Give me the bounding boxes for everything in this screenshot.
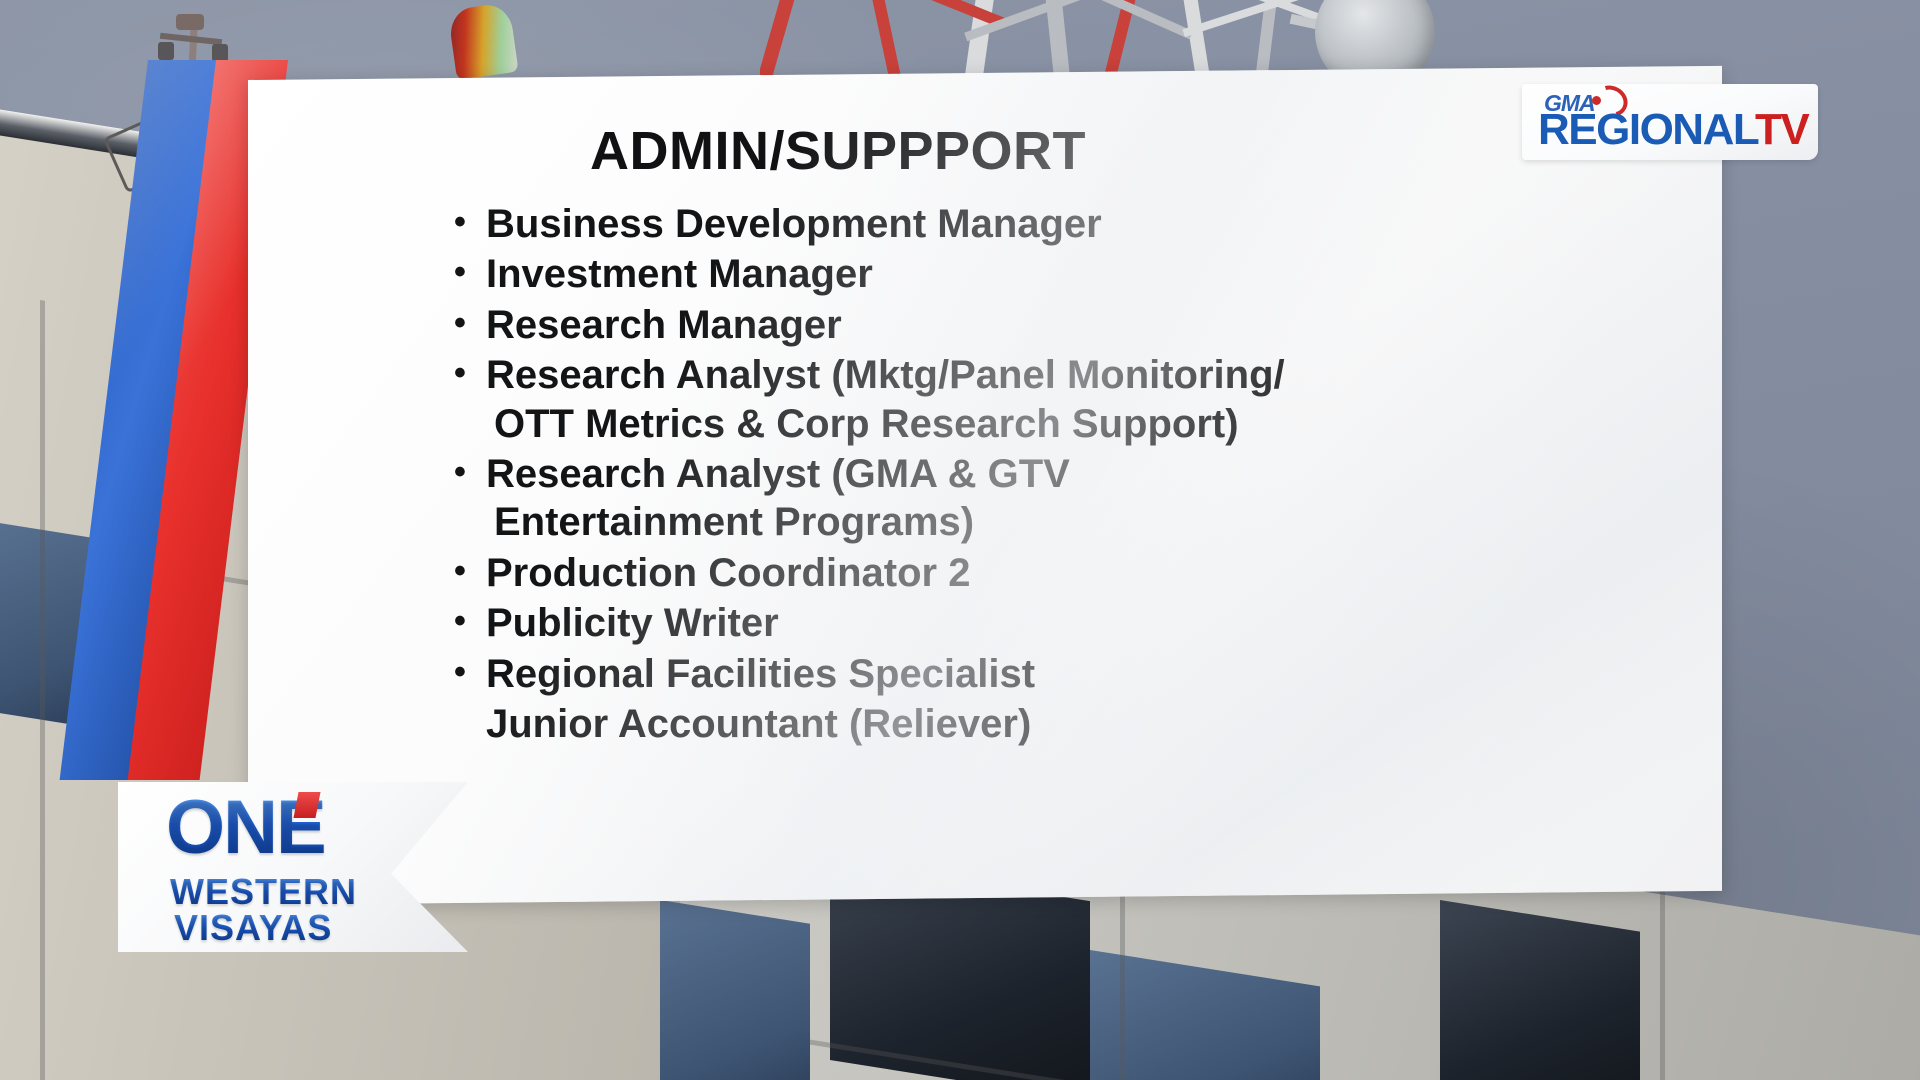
job-title: Business Development Manager bbox=[486, 202, 1102, 246]
job-listing-panel: ADMIN/SUPPPORT • Business Development Ma… bbox=[248, 66, 1722, 905]
list-item: • Research Analyst (Mktg/Panel Monitorin… bbox=[454, 351, 1684, 448]
gma-swoosh-dot-icon bbox=[1592, 96, 1601, 105]
pole-head bbox=[176, 14, 204, 30]
regional-wordmark: REGIONAL bbox=[1538, 105, 1755, 154]
bullet-icon: • bbox=[454, 351, 486, 395]
program-logo-bug: ONE WESTERN VISAYAS bbox=[118, 782, 468, 952]
broadcast-screen: ADMIN/SUPPPORT • Business Development Ma… bbox=[0, 0, 1920, 1080]
job-title: Regional Facilities Specialist bbox=[486, 652, 1035, 696]
program-logo-line3: VISAYAS bbox=[174, 910, 332, 946]
bullet-icon: • bbox=[454, 200, 486, 244]
bullet-icon: • bbox=[454, 450, 486, 494]
job-title-continuation: Entertainment Programs) bbox=[486, 498, 1684, 546]
list-item: • Regional Facilities Specialist bbox=[454, 650, 1684, 698]
program-logo-line2: WESTERN bbox=[170, 874, 357, 910]
bullet-icon: • bbox=[454, 549, 486, 593]
tv-wordmark: TV bbox=[1755, 105, 1808, 154]
job-title: Research Manager bbox=[486, 303, 842, 347]
list-item: • Business Development Manager bbox=[454, 200, 1684, 248]
job-title: Junior Accountant (Reliever) bbox=[486, 702, 1031, 746]
bullet-icon: • bbox=[454, 250, 486, 294]
job-title: Research Analyst (GMA & GTV bbox=[486, 452, 1070, 496]
bullet-icon: • bbox=[454, 599, 486, 643]
panel-title: ADMIN/SUPPPORT bbox=[248, 120, 1428, 182]
list-item: • Investment Manager bbox=[454, 250, 1684, 298]
job-list: • Business Development Manager • Investm… bbox=[454, 200, 1684, 750]
job-title-continuation: OTT Metrics & Corp Research Support) bbox=[486, 400, 1684, 448]
job-title: Publicity Writer bbox=[486, 601, 779, 645]
list-item: • Junior Accountant (Reliever) bbox=[454, 700, 1684, 748]
list-item: • Research Manager bbox=[454, 301, 1684, 349]
network-logo: GMA REGIONALTV bbox=[1522, 84, 1818, 160]
job-title: Production Coordinator 2 bbox=[486, 551, 970, 595]
antenna-cone-left bbox=[158, 42, 174, 60]
list-item: • Publicity Writer bbox=[454, 599, 1684, 647]
list-item: • Production Coordinator 2 bbox=[454, 549, 1684, 597]
job-title: Research Analyst (Mktg/Panel Monitoring/ bbox=[486, 353, 1285, 397]
bullet-icon: • bbox=[454, 650, 486, 694]
bullet-icon: • bbox=[454, 301, 486, 345]
job-title: Investment Manager bbox=[486, 252, 873, 296]
list-item: • Research Analyst (GMA & GTV Entertainm… bbox=[454, 450, 1684, 547]
